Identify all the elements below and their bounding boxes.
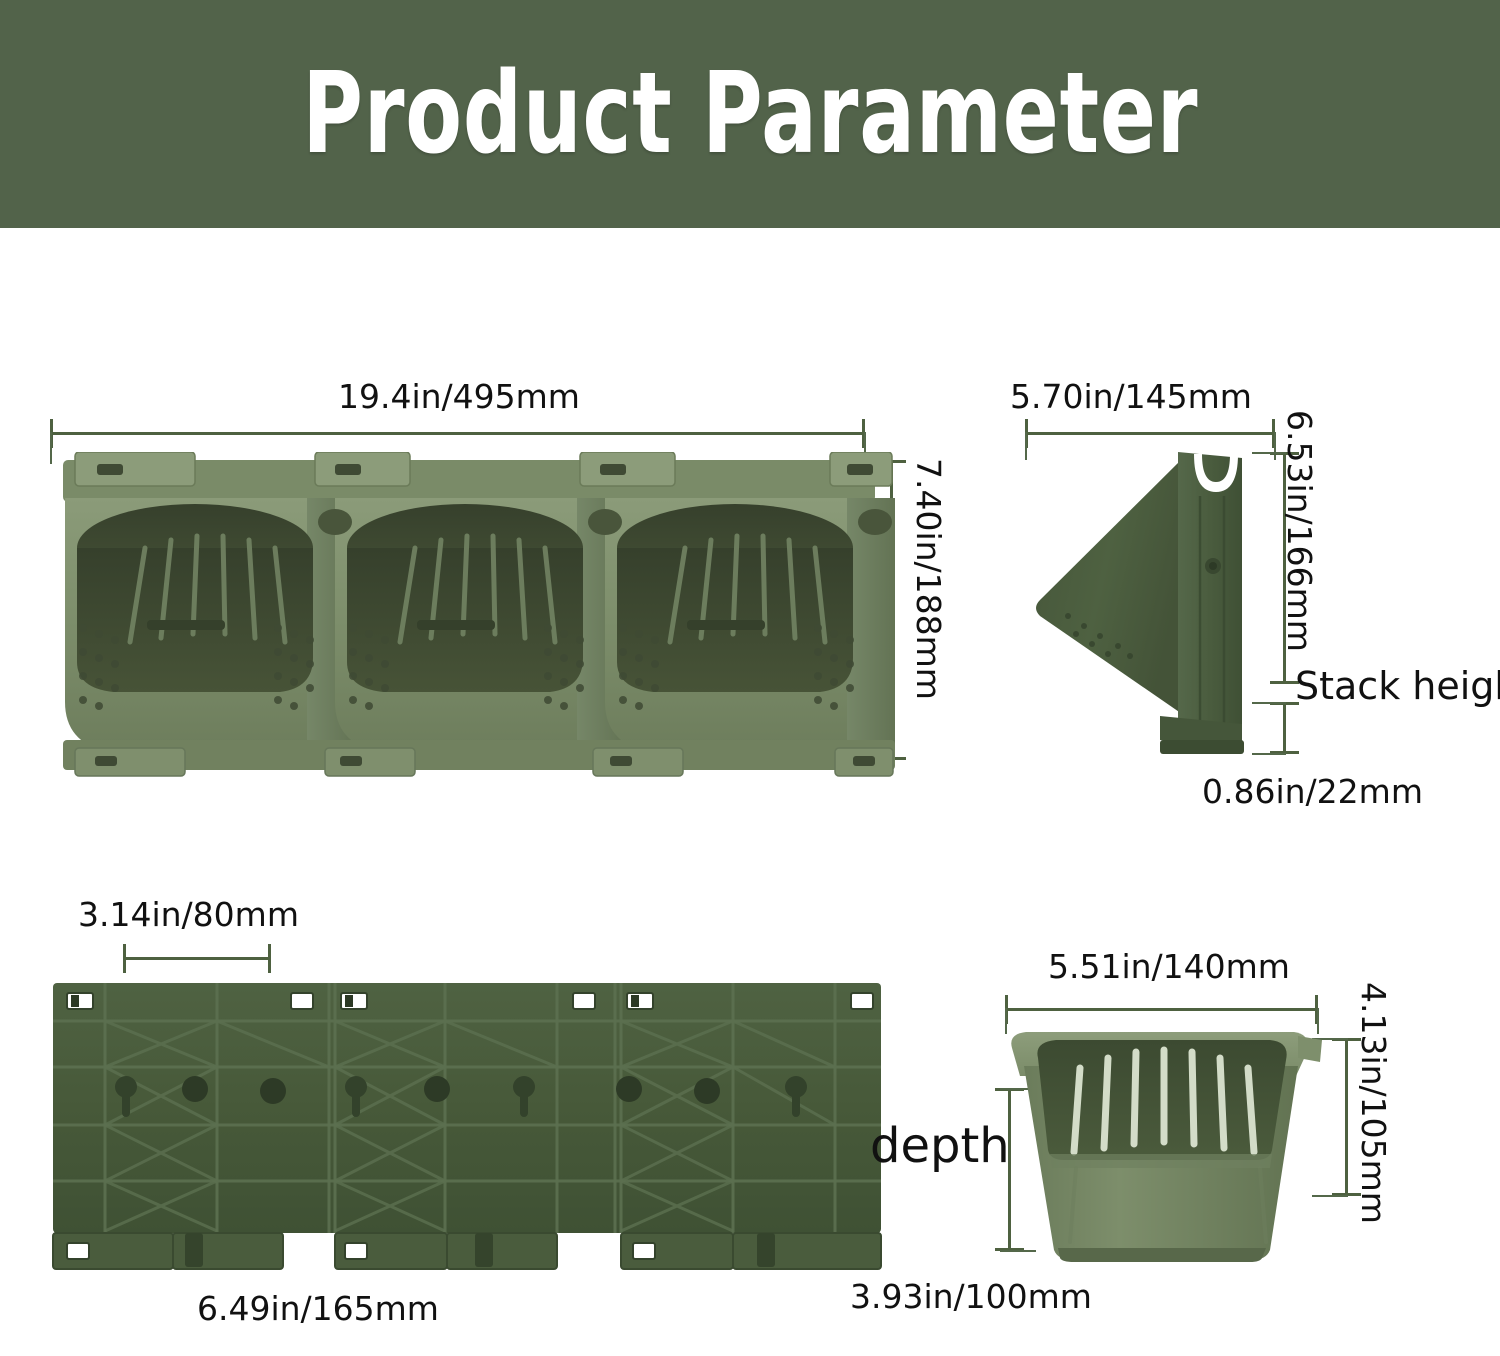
back-tab-width-label: 3.14in/80mm xyxy=(78,898,299,931)
front-width-label: 19.4in/495mm xyxy=(338,380,580,413)
back-panel-illustration xyxy=(45,975,925,1275)
pot-height-label: 4.13in/105mm xyxy=(1357,982,1390,1224)
pot-width-dimension-line xyxy=(1005,1008,1318,1011)
header-banner: Product Parameter xyxy=(0,0,1500,228)
back-tab-width-dimension-line xyxy=(123,957,271,960)
front-width-dimension-line xyxy=(50,432,865,435)
stack-height-label: 0.86in/22mm xyxy=(1202,775,1423,808)
side-view-group: 5.70in/145mm 6.53in/166mm Stack height 0… xyxy=(990,370,1500,820)
page-title: Product Parameter xyxy=(302,58,1198,170)
pot-depth-caption: depth xyxy=(870,1122,1010,1170)
single-pot-illustration xyxy=(998,1022,1328,1262)
side-profile-illustration xyxy=(1010,448,1300,768)
pot-view-group: 5.51in/140mm 4.13in/105mm depth 3.93in/1… xyxy=(960,940,1500,1356)
front-view-group: 19.4in/495mm 7.40in/188mm xyxy=(0,370,960,800)
pot-depth-label: 3.93in/100mm xyxy=(850,1280,1092,1313)
three-pocket-planter-illustration xyxy=(35,452,935,782)
product-parameter-page: Product Parameter 19.4in/495mm 7.40in/18… xyxy=(0,0,1500,1356)
back-view-group: 3.14in/80mm 6.49in/165mm xyxy=(0,880,960,1356)
pot-height-dimension-line xyxy=(1345,1038,1348,1196)
side-depth-dimension-line xyxy=(1025,432,1275,435)
stack-height-caption: Stack height xyxy=(1295,667,1500,705)
pot-width-label: 5.51in/140mm xyxy=(1048,950,1290,983)
back-segment-width-label: 6.49in/165mm xyxy=(197,1292,439,1325)
side-depth-label: 5.70in/145mm xyxy=(1010,380,1252,413)
